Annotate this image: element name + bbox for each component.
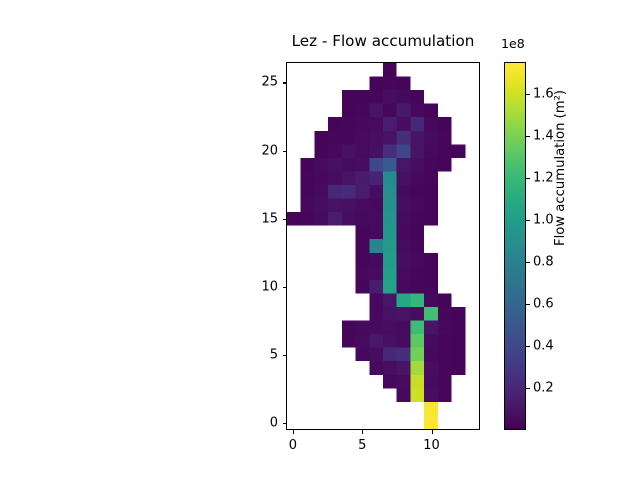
colorbar-tick-mark — [526, 304, 530, 305]
x-tick-label: 10 — [423, 438, 440, 453]
colorbar-label: Flow accumulation (m²) — [553, 90, 568, 246]
y-tick-label: 5 — [236, 348, 278, 363]
x-tick-mark — [293, 430, 294, 434]
x-tick-mark — [362, 430, 363, 434]
y-tick-mark — [283, 287, 287, 288]
y-tick-label: 15 — [236, 211, 278, 226]
colorbar-tick-label: 1.6 — [533, 86, 554, 101]
colorbar-tick-mark — [526, 262, 530, 263]
colorbar-tick-mark — [526, 220, 530, 221]
colorbar-tick-label: 0.2 — [533, 380, 554, 395]
y-tick-mark — [283, 219, 287, 220]
colorbar-tick-label: 0.6 — [533, 296, 554, 311]
colorbar-axes — [504, 62, 526, 430]
x-tick-mark — [432, 430, 433, 434]
colorbar-gradient — [505, 63, 525, 429]
y-tick-mark — [283, 82, 287, 83]
y-tick-label: 10 — [236, 279, 278, 294]
y-tick-label: 25 — [236, 75, 278, 90]
colorbar-tick-mark — [526, 388, 530, 389]
colorbar-tick-mark — [526, 136, 530, 137]
colorbar-tick-label: 0.4 — [533, 338, 554, 353]
colorbar-tick-mark — [526, 346, 530, 347]
colorbar-offset-text: 1e8 — [501, 36, 525, 51]
page-title: Lez - Flow accumulation — [286, 32, 480, 50]
colorbar-tick-label: 0.8 — [533, 254, 554, 269]
heatmap-canvas — [287, 63, 479, 429]
colorbar-tick-label: 1.0 — [533, 212, 554, 227]
heatmap-axes — [286, 62, 480, 430]
colorbar-tick-label: 1.2 — [533, 170, 554, 185]
flow-accumulation-heatmap — [287, 63, 479, 429]
x-tick-label: 0 — [289, 438, 297, 453]
y-tick-mark — [283, 423, 287, 424]
x-tick-label: 5 — [358, 438, 366, 453]
y-tick-label: 0 — [236, 416, 278, 431]
y-tick-mark — [283, 151, 287, 152]
colorbar-tick-label: 1.4 — [533, 128, 554, 143]
colorbar-tick-mark — [526, 94, 530, 95]
colorbar-tick-mark — [526, 178, 530, 179]
matplotlib-figure: Lez - Flow accumulation 0510152025 0510 … — [0, 0, 640, 480]
y-tick-mark — [283, 355, 287, 356]
y-tick-label: 20 — [236, 143, 278, 158]
